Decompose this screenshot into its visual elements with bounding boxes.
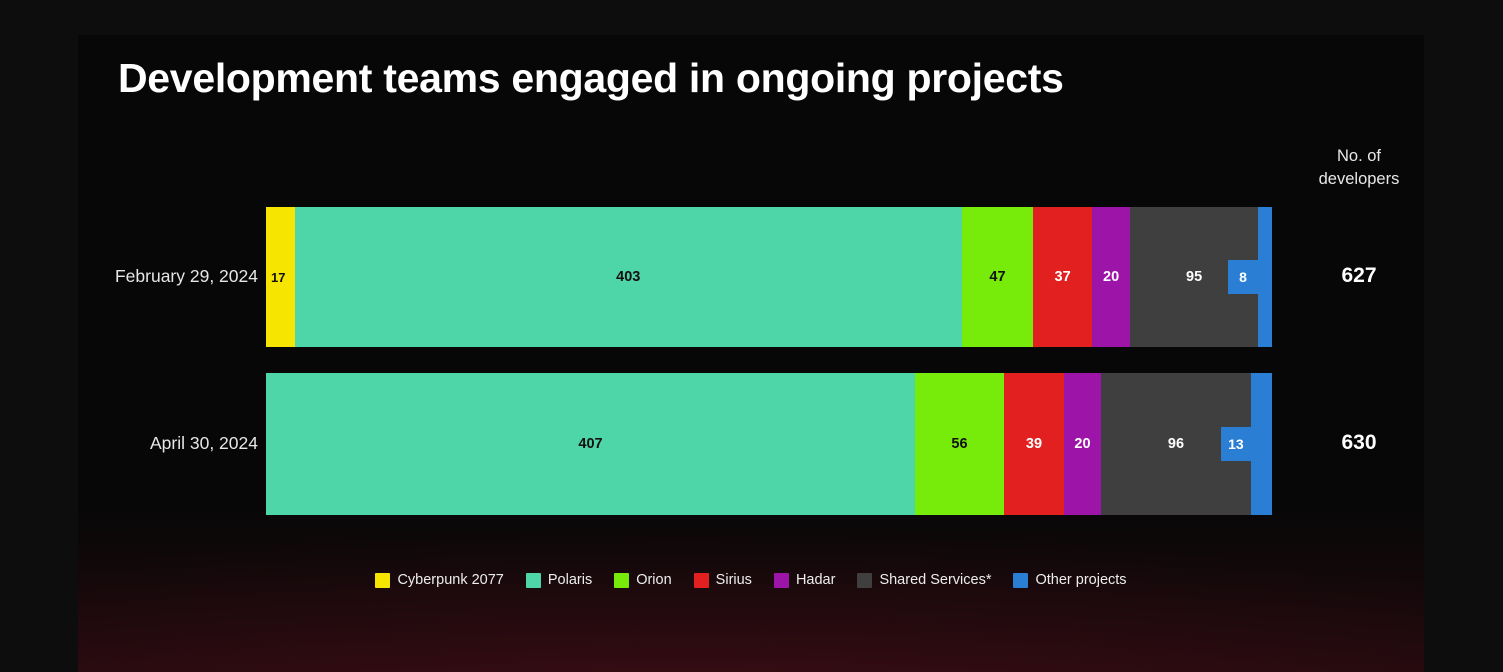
- bar-segment-sirius[interactable]: 39: [1004, 373, 1064, 515]
- segment-value-label: 17: [271, 270, 285, 285]
- bar-segment-orion[interactable]: 56: [915, 373, 1004, 515]
- legend-item[interactable]: Polaris: [526, 572, 592, 588]
- segment-value-label: 407: [578, 436, 602, 452]
- total-column-header-line1: No. of: [1294, 145, 1424, 168]
- stacked-bar: 17403473720958: [266, 207, 1272, 347]
- legend-swatch-icon: [774, 573, 789, 588]
- bar-segment-other[interactable]: 13: [1251, 373, 1272, 515]
- bar-segment-cyberpunk[interactable]: 17: [266, 207, 295, 347]
- chart-panel: Development teams engaged in ongoing pro…: [78, 35, 1424, 672]
- legend-swatch-icon: [1013, 573, 1028, 588]
- bar-segment-other[interactable]: 8: [1258, 207, 1272, 347]
- segment-value-label: 37: [1055, 269, 1071, 285]
- legend-item[interactable]: Sirius: [694, 572, 752, 588]
- bar-segment-polaris[interactable]: 407: [266, 373, 915, 515]
- legend-label: Hadar: [796, 572, 836, 588]
- legend-item[interactable]: Cyberpunk 2077: [375, 572, 503, 588]
- total-column-header-line2: developers: [1294, 168, 1424, 191]
- legend-swatch-icon: [375, 573, 390, 588]
- legend-label: Orion: [636, 572, 671, 588]
- stacked-bar: 4075639209613: [266, 373, 1272, 515]
- legend-label: Shared Services*: [879, 572, 991, 588]
- legend-item[interactable]: Shared Services*: [857, 572, 991, 588]
- row-category-label: February 29, 2024: [78, 266, 258, 287]
- legend-label: Other projects: [1035, 572, 1126, 588]
- chart-legend: Cyberpunk 2077PolarisOrionSiriusHadarSha…: [78, 572, 1424, 588]
- legend-swatch-icon: [857, 573, 872, 588]
- legend-label: Polaris: [548, 572, 592, 588]
- bar-segment-sirius[interactable]: 37: [1033, 207, 1092, 347]
- legend-label: Sirius: [716, 572, 752, 588]
- legend-item[interactable]: Orion: [614, 572, 671, 588]
- bar-segment-hadar[interactable]: 20: [1064, 373, 1101, 515]
- row-total-value: 630: [1294, 431, 1424, 455]
- segment-value-label: 47: [989, 269, 1005, 285]
- legend-item[interactable]: Hadar: [774, 572, 836, 588]
- segment-value-label: 56: [951, 436, 967, 452]
- bar-segment-orion[interactable]: 47: [962, 207, 1033, 347]
- legend-item[interactable]: Other projects: [1013, 572, 1126, 588]
- segment-value-label: 95: [1186, 269, 1202, 285]
- chart-row: April 30, 20244075639209613630: [78, 373, 1424, 515]
- segment-value-label: 20: [1074, 436, 1090, 452]
- legend-swatch-icon: [526, 573, 541, 588]
- row-category-label: April 30, 2024: [78, 433, 258, 454]
- bar-segment-polaris[interactable]: 403: [295, 207, 962, 347]
- segment-value-label: 96: [1168, 436, 1184, 452]
- legend-swatch-icon: [694, 573, 709, 588]
- segment-value-label: 39: [1026, 436, 1042, 452]
- bar-segment-hadar[interactable]: 20: [1092, 207, 1130, 347]
- segment-value-label: 403: [616, 269, 640, 285]
- chart-row: February 29, 202417403473720958627: [78, 207, 1424, 347]
- segment-value-callout: 8: [1228, 260, 1258, 294]
- total-column-header: No. of developers: [1294, 145, 1424, 191]
- segment-value-label: 20: [1103, 269, 1119, 285]
- legend-swatch-icon: [614, 573, 629, 588]
- slide-canvas: Development teams engaged in ongoing pro…: [0, 0, 1503, 672]
- row-total-value: 627: [1294, 264, 1424, 288]
- segment-value-callout: 13: [1221, 427, 1251, 461]
- legend-label: Cyberpunk 2077: [397, 572, 503, 588]
- page-title: Development teams engaged in ongoing pro…: [118, 55, 1064, 102]
